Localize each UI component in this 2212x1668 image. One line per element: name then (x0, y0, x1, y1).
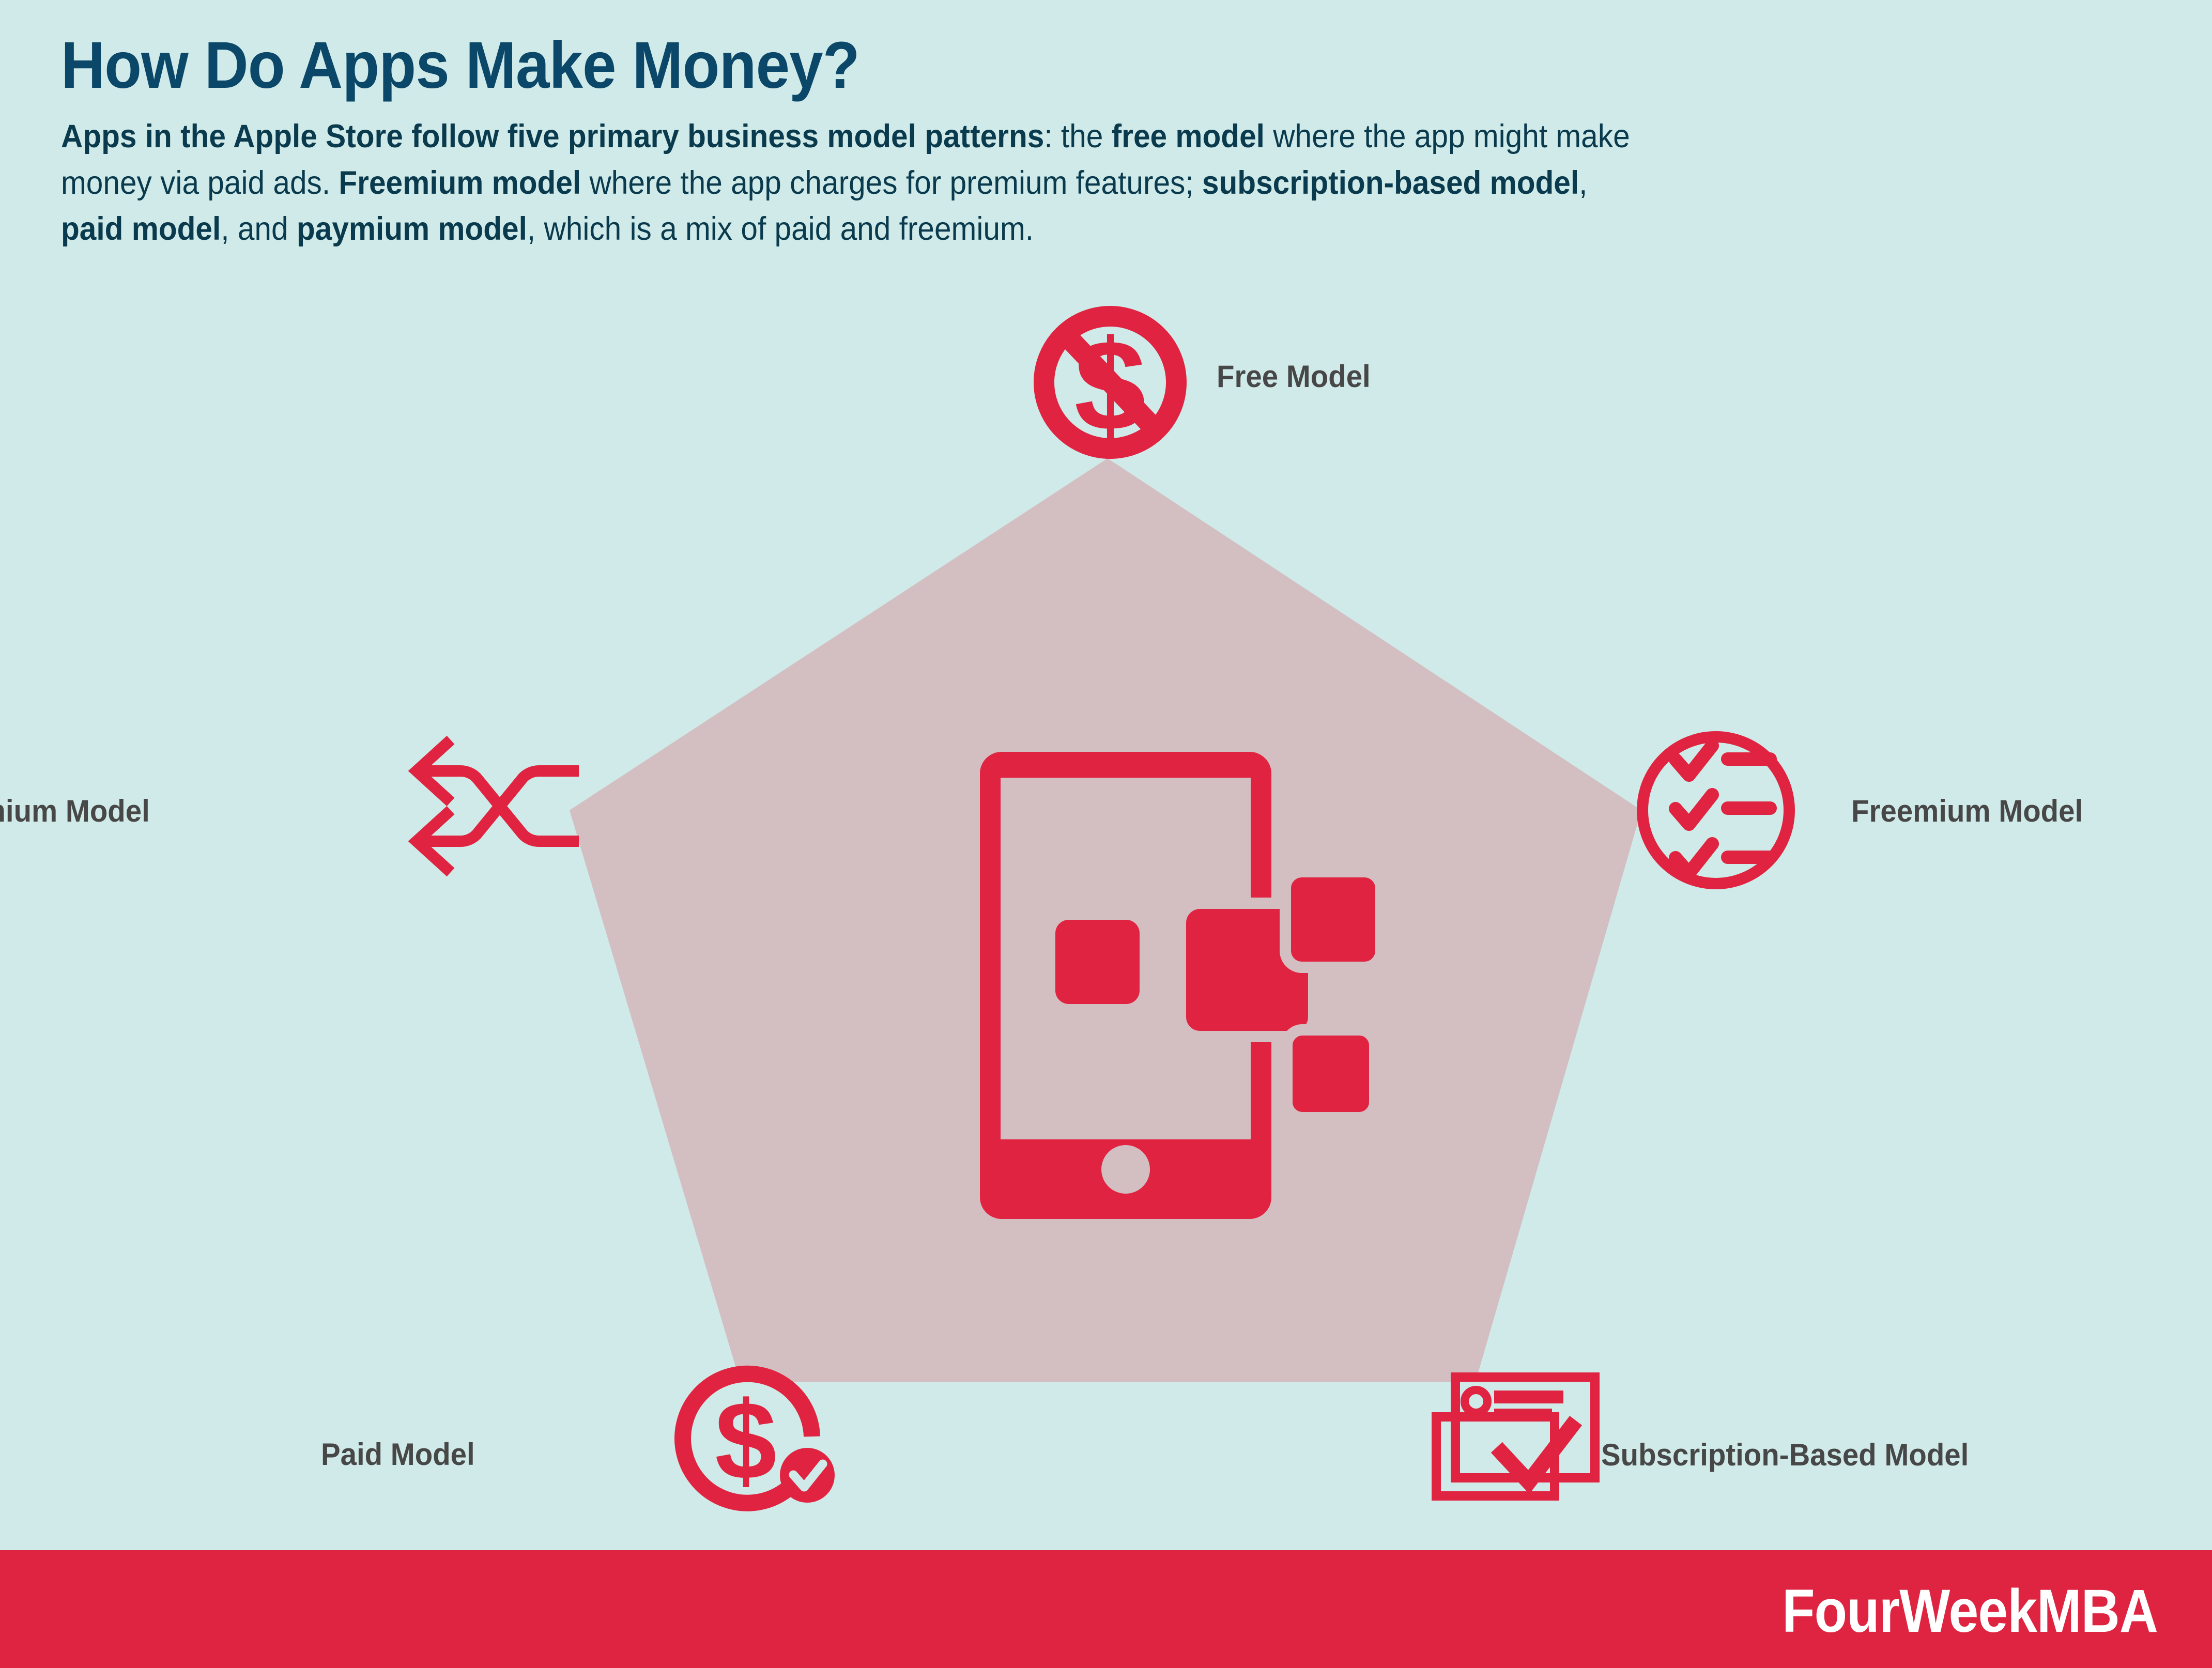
dollar-circle-check-icon[interactable]: $ (683, 1374, 835, 1503)
brand-logo: FourWeekMBA (1782, 1576, 2158, 1646)
infographic-canvas: How Do Apps Make Money? Apps in the Appl… (0, 0, 2212, 1668)
no-dollar-circle-icon[interactable]: $ (1044, 313, 1176, 457)
card-checkmark-icon[interactable] (1436, 1377, 1595, 1496)
svg-text:$: $ (715, 1378, 777, 1503)
node-label-free: Free Model (1217, 359, 1371, 394)
footer-bar: FourWeekMBA (0, 1550, 2212, 1668)
pentagon-diagram: $ (0, 0, 2212, 1668)
checklist-circle-icon[interactable] (1642, 737, 1789, 884)
node-label-paymium: Paymium Model (0, 793, 150, 829)
node-label-paid: Paid Model (321, 1437, 475, 1472)
node-label-freemium: Freemium Model (1851, 793, 2083, 829)
node-label-subscription: Subscription-Based Model (1601, 1437, 1969, 1473)
crossing-arrows-icon[interactable] (417, 740, 579, 872)
